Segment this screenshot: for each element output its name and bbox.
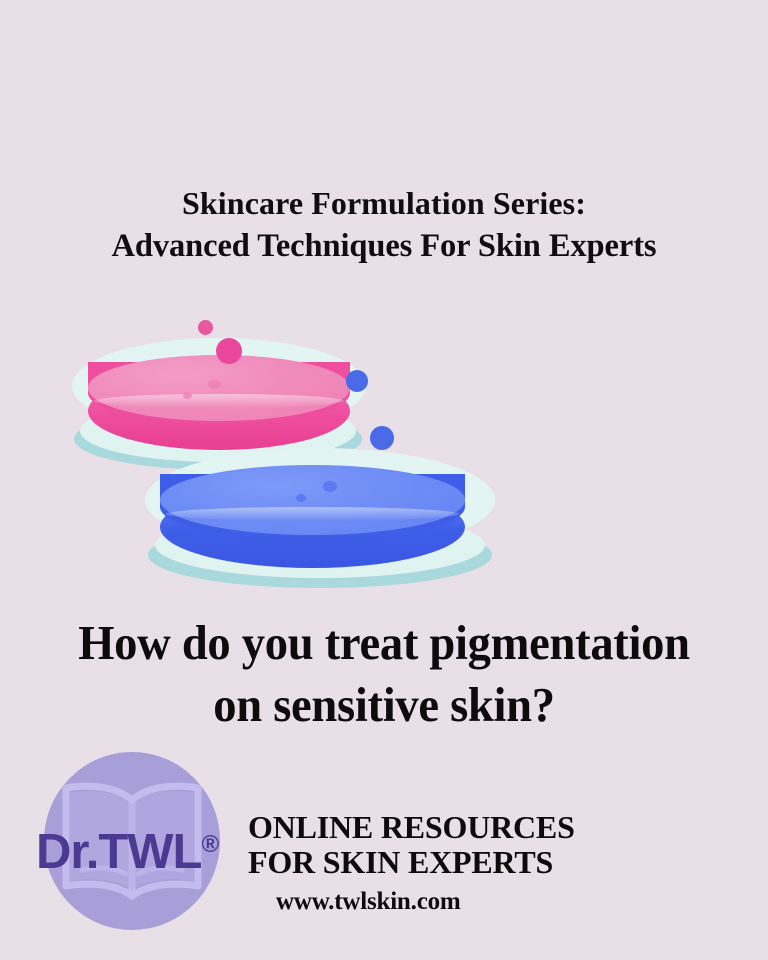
question-line2: on sensitive skin?: [19, 674, 749, 736]
website-url[interactable]: www.twlskin.com: [276, 887, 668, 916]
logo-wordmark-text: Dr.TWL: [36, 825, 201, 879]
poster-canvas: Skincare Formulation Series: Advanced Te…: [0, 0, 768, 960]
blue-dish-speck-2: [296, 494, 306, 502]
blue-dish-gloss: [166, 507, 459, 521]
blue-dot-upper-icon: [346, 370, 368, 392]
question-line1: How do you treat pigmentation: [19, 612, 749, 674]
series-title-line2: Advanced Techniques For Skin Experts: [6, 224, 762, 268]
pink-dish-gloss: [94, 394, 344, 408]
registered-trademark-icon: ®: [201, 831, 219, 858]
logo-wordmark: Dr.TWL®: [36, 820, 246, 877]
tagline-line2: FOR SKIN EXPERTS: [248, 845, 668, 880]
title-block: Skincare Formulation Series: Advanced Te…: [0, 182, 768, 268]
pink-dish-surface: [88, 355, 350, 421]
pink-dish-speck-2: [183, 392, 192, 399]
pink-dot-large-icon: [216, 338, 242, 364]
blue-dot-lower-icon: [370, 426, 394, 450]
brand-logo[interactable]: Dr.TWL®: [44, 752, 220, 930]
pink-dish-speck-1: [208, 380, 221, 389]
petri-dish-illustration: [0, 300, 768, 600]
footer-tagline-block: ONLINE RESOURCES FOR SKIN EXPERTS www.tw…: [248, 810, 668, 916]
tagline-line1: ONLINE RESOURCES: [248, 810, 668, 845]
question-block: How do you treat pigmentation on sensiti…: [0, 612, 768, 736]
series-title-line1: Skincare Formulation Series:: [0, 182, 768, 224]
pink-dot-small-icon: [198, 320, 213, 335]
blue-dish-speck-1: [323, 481, 337, 492]
blue-dish-surface: [160, 465, 465, 535]
